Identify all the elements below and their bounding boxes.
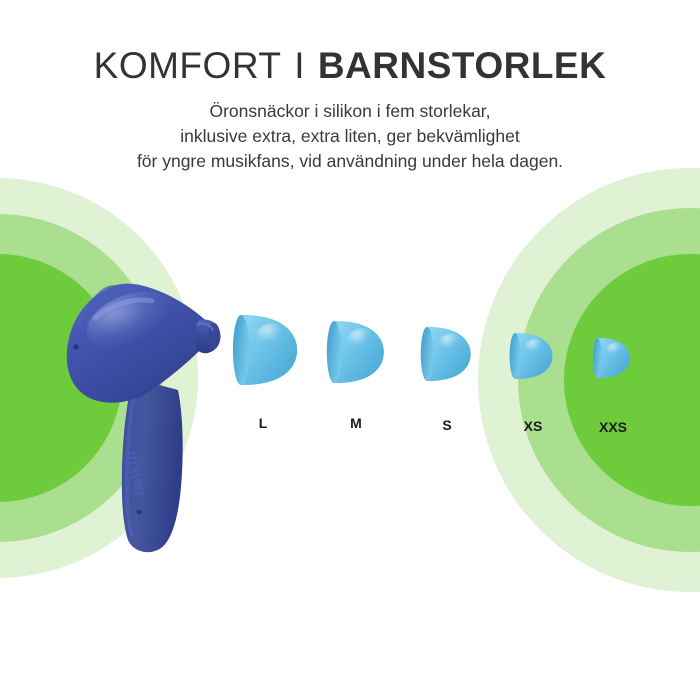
title-separator: I [281, 45, 317, 86]
page-title: KOMFORT I BARNSTORLEK [0, 0, 700, 87]
header: KOMFORT I BARNSTORLEK Öronsnäckor i sili… [0, 0, 700, 174]
product-infographic: belkin LMSXSXXS KOMFORT I BARNSTORLEK Ör… [0, 0, 700, 700]
title-bold-part: BARNSTORLEK [318, 45, 607, 86]
size-label-l: L [259, 415, 268, 431]
subtitle-line-2: inklusive extra, extra liten, ger bekväm… [0, 124, 700, 149]
title-light-part: KOMFORT [94, 45, 282, 86]
size-label-m: M [350, 415, 362, 431]
subtitle-line-1: Öronsnäckor i silikon i fem storlekar, [0, 99, 700, 124]
page-subtitle: Öronsnäckor i silikon i fem storlekar, i… [0, 87, 700, 174]
subtitle-line-3: för yngre musikfans, vid användning unde… [0, 149, 700, 174]
size-label-s: S [442, 417, 451, 433]
size-label-xs: XS [524, 418, 543, 434]
size-label-xxs: XXS [599, 419, 627, 435]
